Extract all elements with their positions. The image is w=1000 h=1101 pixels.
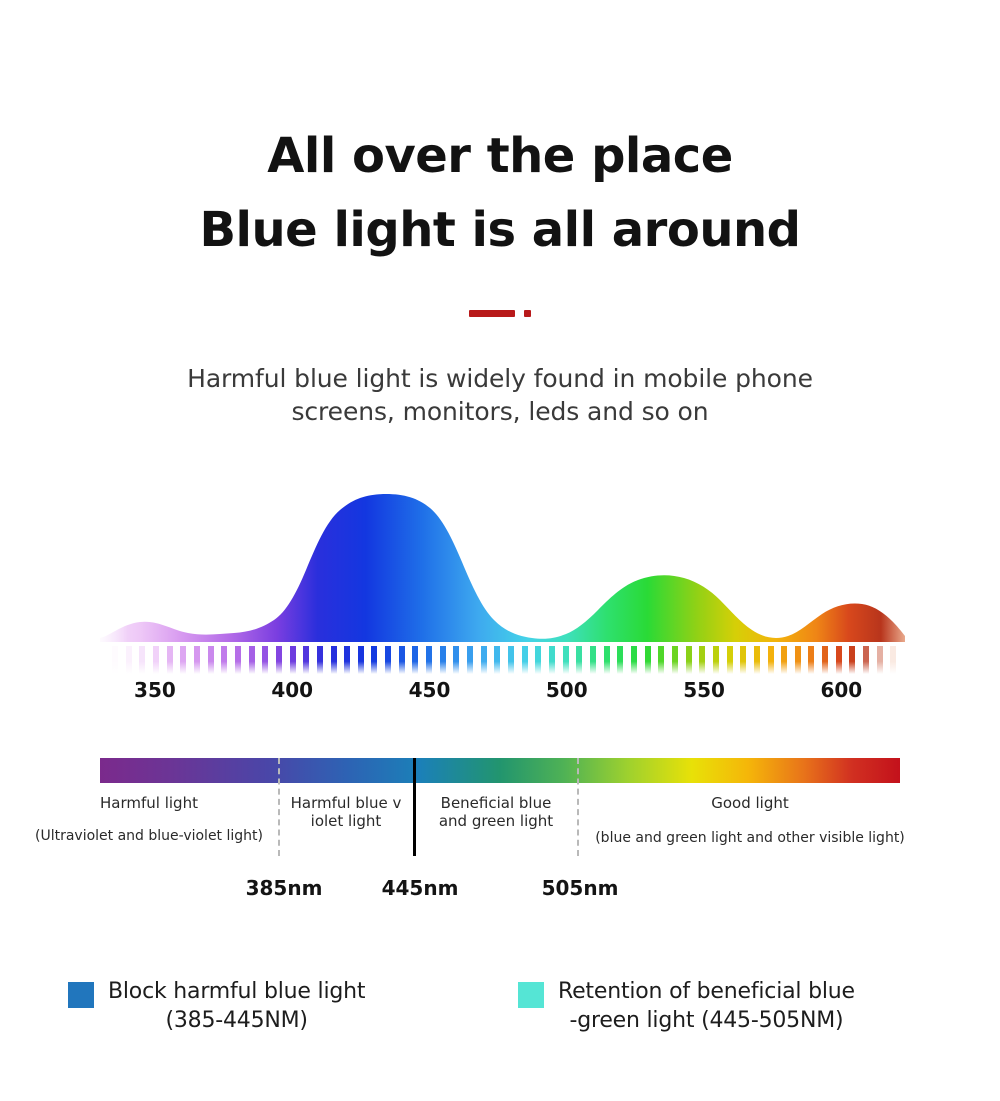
tick-bar [317,646,323,674]
tick-bar [344,646,350,674]
zone-harmful-blue-violet-title: Harmful blue v iolet light [282,794,410,831]
tick-bar [836,646,842,674]
tick-bar [890,646,896,674]
tick-bar [440,646,446,674]
tick-bar [508,646,514,674]
zone-beneficial-blue-green: Beneficial blue and green light [418,794,574,831]
tick-bar [754,646,760,674]
subtitle: Harmful blue light is widely found in mo… [0,362,1000,428]
band-divider-505 [577,758,579,856]
band-divider-445 [413,758,416,856]
spectrum-curve-area [100,486,905,646]
legend-label-retention-beneficial: Retention of beneficial blue -green ligh… [558,978,855,1035]
zone-beneficial-blue-green-title: Beneficial blue and green light [418,794,574,831]
tick-bar [877,646,883,674]
tick-bar [781,646,787,674]
tick-bar [426,646,432,674]
zone-harmful-light-title: Harmful light [20,794,278,812]
tick-bar [331,646,337,674]
chart-legend: Block harmful blue light (385-445NM) Ret… [0,970,1000,1050]
tick-bar [795,646,801,674]
tick-bar [262,646,268,674]
tick-bar [494,646,500,674]
tick-bar [590,646,596,674]
tick-bar [371,646,377,674]
tick-bar [221,646,227,674]
tick-bar [303,646,309,674]
tick-bar [276,646,282,674]
headline-secondary: Blue light is all around [0,206,1000,254]
tick-bar [604,646,610,674]
tick-bar [822,646,828,674]
legend-label-block-harmful: Block harmful blue light (385-445NM) [108,978,365,1035]
tick-bar [576,646,582,674]
wavelength-color-band [100,758,900,783]
legend-item-block-harmful: Block harmful blue light (385-445NM) [68,978,365,1035]
headline-primary: All over the place [0,132,1000,180]
tick-bar [768,646,774,674]
tick-bar [522,646,528,674]
legend-item-retention-beneficial: Retention of beneficial blue -green ligh… [518,978,855,1035]
axis-label-600: 600 [820,678,862,702]
tick-bar [658,646,664,674]
tick-bar [194,646,200,674]
wavelength-band-section: Harmful light (Ultraviolet and blue-viol… [0,758,1000,908]
band-divider-385 [278,758,280,856]
tick-bar [808,646,814,674]
nm-label-385: 385nm [246,876,323,900]
tick-bar [126,646,132,674]
nm-label-505: 505nm [542,876,619,900]
tick-bar [563,646,569,674]
zone-harmful-blue-violet: Harmful blue v iolet light [282,794,410,831]
tick-bar [235,646,241,674]
tick-bar [535,646,541,674]
tick-bar [481,646,487,674]
subtitle-line-2: screens, monitors, leds and so on [0,395,1000,428]
axis-label-350: 350 [134,678,176,702]
zone-good-light-subtitle: (blue and green light and other visible … [582,830,918,847]
axis-label-450: 450 [409,678,451,702]
tick-bar [699,646,705,674]
tick-bar [385,646,391,674]
tick-bar [727,646,733,674]
tick-bar [631,646,637,674]
divider-dot-icon [524,310,531,317]
zone-good-light-title: Good light [582,794,918,812]
tick-bar [467,646,473,674]
legend-swatch-cyan [518,982,544,1008]
tick-bar [112,646,118,674]
zone-harmful-light-subtitle: (Ultraviolet and blue-violet light) [20,828,278,845]
decorative-divider [0,310,1000,317]
tick-bar [358,646,364,674]
tick-bar [453,646,459,674]
axis-label-400: 400 [271,678,313,702]
tick-bar [139,646,145,674]
tick-bar [672,646,678,674]
divider-dash-icon [469,310,515,317]
spectrum-axis-labels: 350400450500550600 [100,678,910,708]
tick-bar [249,646,255,674]
tick-bar [863,646,869,674]
axis-label-550: 550 [683,678,725,702]
spectrum-chart: 350400450500550600 [0,486,1000,716]
axis-label-500: 500 [546,678,588,702]
tick-bar [849,646,855,674]
tick-bar [208,646,214,674]
tick-bar [740,646,746,674]
tick-bar [645,646,651,674]
tick-bar [713,646,719,674]
tick-bar [153,646,159,674]
nm-threshold-labels: 385nm 445nm 505nm [0,876,1000,906]
tick-bar [167,646,173,674]
tick-bar [290,646,296,674]
zone-good-light: Good light (blue and green light and oth… [582,794,918,847]
spectrum-tick-band [112,646,897,674]
tick-bar [180,646,186,674]
tick-bar [549,646,555,674]
heading-block: All over the place Blue light is all aro… [0,132,1000,254]
tick-bar [399,646,405,674]
tick-bar [686,646,692,674]
subtitle-line-1: Harmful blue light is widely found in mo… [0,362,1000,395]
nm-label-445: 445nm [382,876,459,900]
legend-swatch-blue [68,982,94,1008]
tick-bar [412,646,418,674]
zone-harmful-light: Harmful light (Ultraviolet and blue-viol… [20,794,278,845]
tick-bar [617,646,623,674]
